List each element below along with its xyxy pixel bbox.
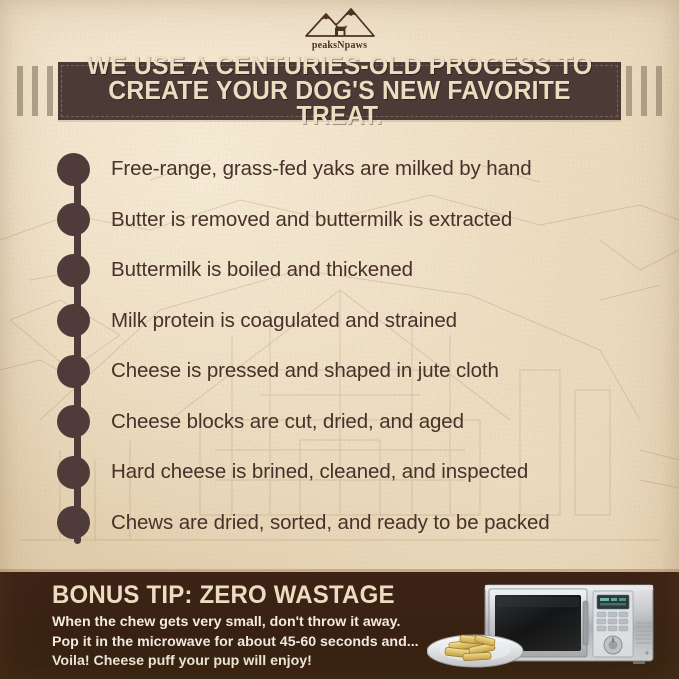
step-bullet-dot [57, 254, 90, 287]
list-item: Chews are dried, sorted, and ready to be… [0, 498, 679, 549]
step-bullet-dot [57, 405, 90, 438]
step-bullet-dot [57, 203, 90, 236]
brand-name: peaksNpaws [312, 40, 367, 51]
step-label: Buttermilk is boiled and thickened [111, 258, 413, 282]
list-item: Buttermilk is boiled and thickened [0, 245, 679, 296]
step-bullet-dot [57, 506, 90, 539]
tick-mark [626, 66, 632, 116]
bonus-tip-body: When the chew gets very small, don't thr… [52, 613, 419, 672]
brand-logo: peaksNpaws [0, 6, 679, 51]
step-bullet-dot [57, 456, 90, 489]
step-label: Milk protein is coagulated and strained [111, 309, 457, 333]
list-item: Butter is removed and buttermilk is extr… [0, 195, 679, 246]
bonus-tip-bar: BONUS TIP: ZERO WASTAGE When the chew ge… [0, 569, 679, 679]
infographic-poster: peaksNpaws WE USE A CENTURIES-OLD PROCES… [0, 0, 679, 679]
list-item: Milk protein is coagulated and strained [0, 296, 679, 347]
mountain-dog-logo-icon [302, 6, 378, 39]
step-bullet-dot [57, 355, 90, 388]
step-label: Cheese blocks are cut, dried, and aged [111, 410, 464, 434]
step-bullet-dot [57, 153, 90, 186]
bonus-tip-heading: BONUS TIP: ZERO WASTAGE [52, 581, 395, 610]
banner-title: WE USE A CENTURIES-OLD PROCESS TO CREATE… [66, 54, 612, 129]
process-step-list: Free-range, grass-fed yaks are milked by… [0, 144, 679, 548]
step-label: Free-range, grass-fed yaks are milked by… [111, 157, 532, 181]
step-label: Chews are dried, sorted, and ready to be… [111, 511, 550, 535]
tick-mark [32, 66, 38, 116]
tick-mark [641, 66, 647, 116]
tick-mark [656, 66, 662, 116]
tick-mark [47, 66, 53, 116]
step-label: Cheese is pressed and shaped in jute clo… [111, 359, 499, 383]
tick-mark [17, 66, 23, 116]
list-item: Cheese is pressed and shaped in jute clo… [0, 346, 679, 397]
step-label: Hard cheese is brined, cleaned, and insp… [111, 460, 528, 484]
step-label: Butter is removed and buttermilk is extr… [111, 208, 512, 232]
list-item: Hard cheese is brined, cleaned, and insp… [0, 447, 679, 498]
list-item: Cheese blocks are cut, dried, and aged [0, 397, 679, 448]
microwave-with-cheese-puffs-icon [427, 579, 657, 671]
list-item: Free-range, grass-fed yaks are milked by… [0, 144, 679, 195]
step-bullet-dot [57, 304, 90, 337]
headline-banner: WE USE A CENTURIES-OLD PROCESS TO CREATE… [58, 62, 621, 120]
